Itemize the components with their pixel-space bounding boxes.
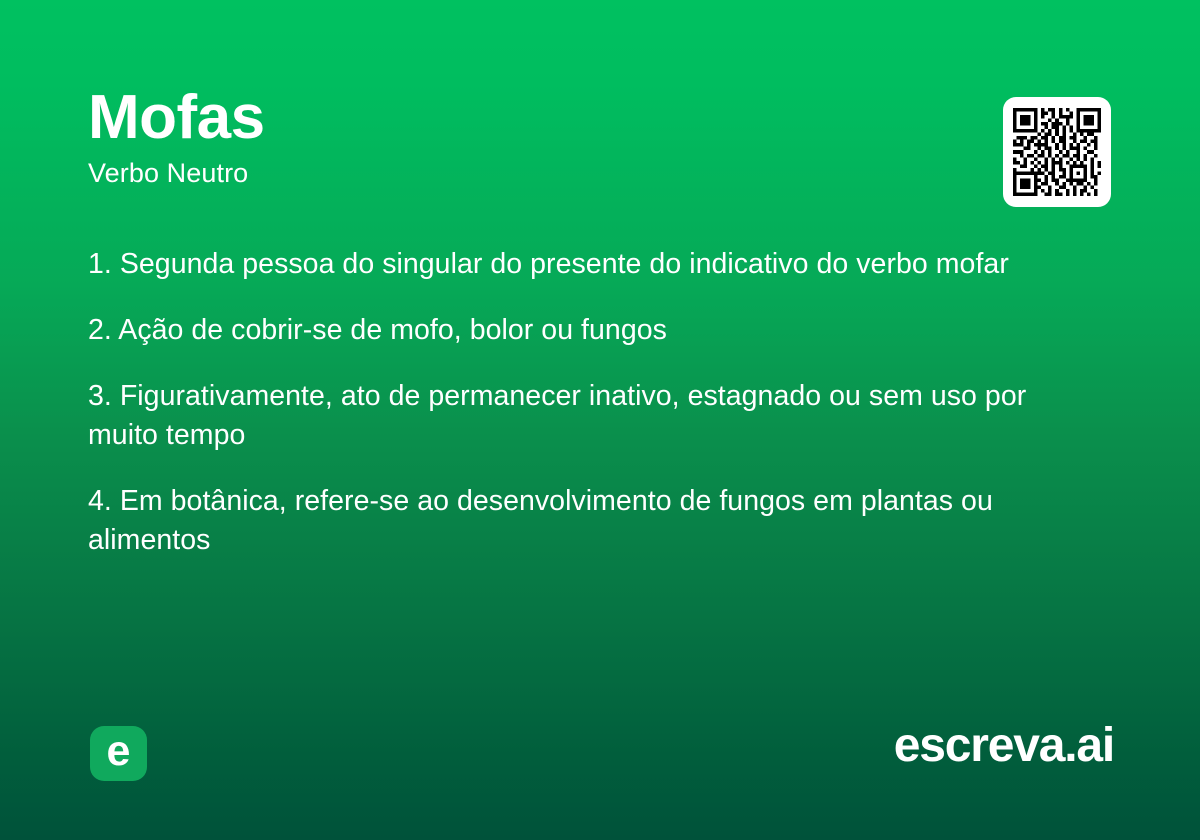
list-item: 1. Segunda pessoa do singular do present… — [88, 245, 1048, 284]
escreva-logo-mark[interactable]: e — [90, 726, 147, 781]
logo-letter: e — [107, 730, 131, 773]
brand-wordmark[interactable]: escreva.ai — [894, 722, 1114, 770]
dictionary-card: Mofas Verbo Neutro — [0, 0, 1200, 840]
qr-code-icon — [1013, 107, 1101, 197]
list-item: 4. Em botânica, refere-se ao desenvolvim… — [88, 482, 1048, 560]
definition-list: 1. Segunda pessoa do singular do present… — [88, 245, 1048, 560]
qr-code-container[interactable] — [1003, 97, 1111, 207]
word-class-label: Verbo Neutro — [88, 159, 1112, 189]
page-title: Mofas — [88, 86, 1112, 149]
list-item: 3. Figurativamente, ato de permanecer in… — [88, 377, 1048, 455]
list-item: 2. Ação de cobrir-se de mofo, bolor ou f… — [88, 311, 1048, 350]
card-header: Mofas Verbo Neutro — [88, 86, 1112, 189]
